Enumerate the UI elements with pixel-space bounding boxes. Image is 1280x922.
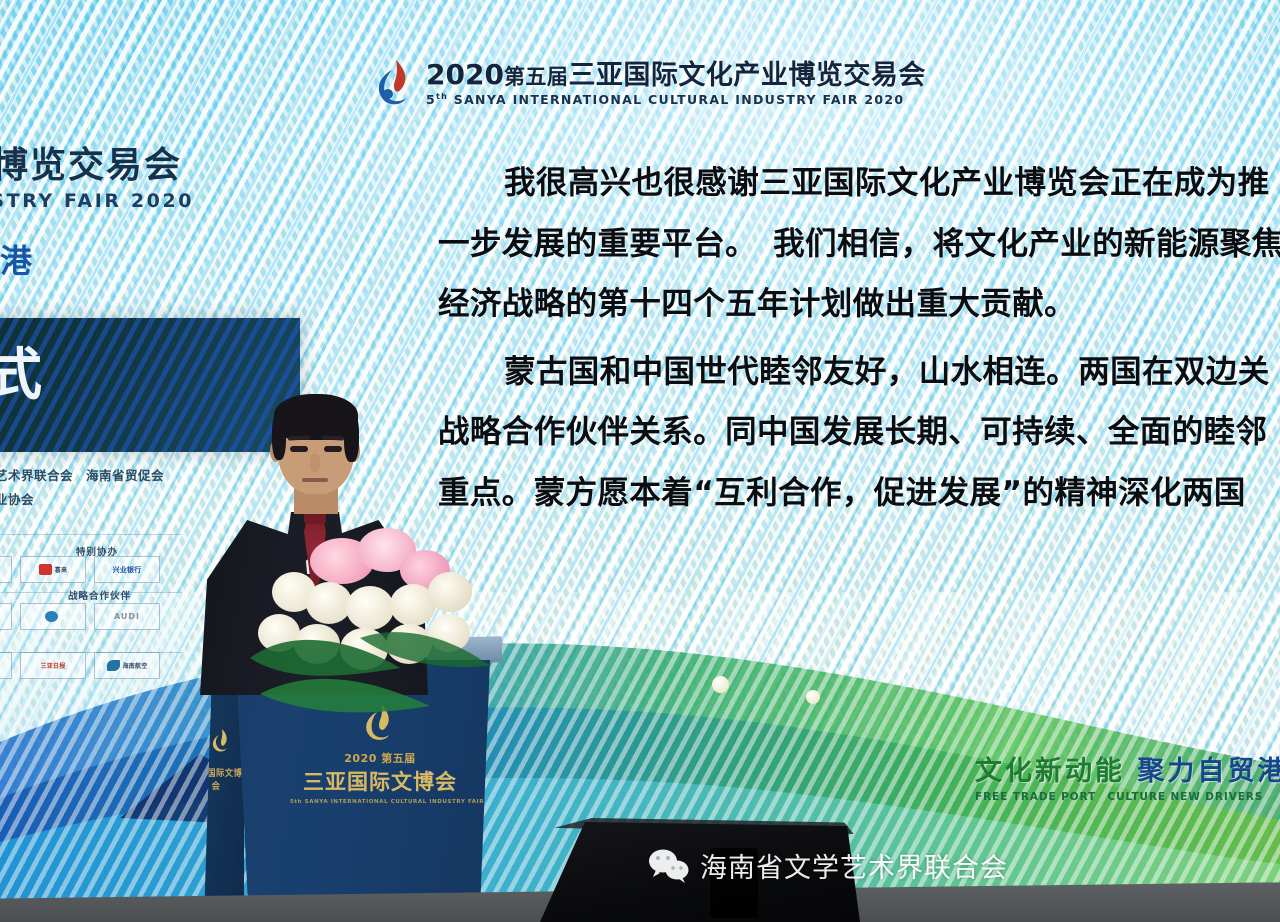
foliage-leaves xyxy=(240,598,510,728)
sponsor-caption-special: 特别协办 xyxy=(76,544,118,558)
fair-logo-edition: 第五届 xyxy=(504,65,569,89)
left-dark-panel-char: 式 xyxy=(0,330,44,411)
sponsor-caption-strategic: 战略合作伙伴 xyxy=(68,588,131,602)
sponsor-logo-7: 中国银行 xyxy=(0,652,12,679)
sponsor-logo-1: 中国.人 xyxy=(0,556,12,583)
organizer-list: 省文学艺术界联合会 海南省贸促会 文化产业协会 xyxy=(0,464,164,512)
sponsor-logo-6: AUDI xyxy=(94,603,160,630)
podium-year: 2020 xyxy=(344,752,377,765)
fair-header-logo: 2020第五届三亚国际文化产业博览交易会 5th SANYA INTERNATI… xyxy=(372,58,926,110)
left-banner-cn: 业博览交易会 xyxy=(0,148,194,184)
fair-logo-title-cn: 三亚国际文化产业博览交易会 xyxy=(568,60,926,91)
speech-p2-line1: 蒙古国和中国世代睦邻友好，山水相连。两国在双边关 xyxy=(438,357,1280,389)
eye-left xyxy=(290,446,308,452)
sponsor-logo-5 xyxy=(20,603,86,630)
left-banner-partial: 业博览交易会 DUSTRY FAIR 2020 xyxy=(0,148,194,211)
backdrop-slogan: 文化新动能 聚力自贸港 FREE TRADE PORT CULTURE NEW … xyxy=(975,758,1280,803)
left-banner-blue: 贸港 xyxy=(0,236,34,282)
sponsor-row: 中国.人 喜来 兴业银行 xyxy=(0,556,196,583)
wechat-icon xyxy=(648,848,690,884)
fair-logo-title-en: SANYA INTERNATIONAL CULTURAL INDUSTRY FA… xyxy=(454,92,905,107)
organizer-line-1: 省文学艺术界联合会 海南省贸促会 xyxy=(0,464,164,488)
decor-orb-2 xyxy=(806,690,820,704)
nose xyxy=(310,454,320,472)
sponsor-row: 中国银行 三亚日报 海南航空 xyxy=(0,652,196,679)
podium-side-flame-icon xyxy=(210,728,232,754)
sponsor-logo-2: 喜来 xyxy=(20,556,86,583)
speech-text-block: 我很高兴也很感谢三亚国际文化产业博览会正在成为推 一步发展的重要平台。 我们相信… xyxy=(438,168,1280,538)
slogan-cn-part1: 文化新动能 xyxy=(975,756,1125,787)
slogan-cn-part2: 聚力自贸港 xyxy=(1137,756,1280,787)
wechat-watermark: 海南省文学艺术界联合会 xyxy=(648,846,1008,885)
speech-p2-line3: 重点。蒙方愿本着“互利合作，促进发展”的精神深化两国 xyxy=(438,478,1280,510)
hair-side-right xyxy=(344,412,359,462)
sponsor-logo-3: 兴业银行 xyxy=(94,556,160,583)
slogan-en: FREE TRADE PORT CULTURE NEW DRIVERS xyxy=(975,792,1280,803)
flower-arrangement xyxy=(250,528,510,718)
mouth xyxy=(302,478,328,482)
organizer-line-2: 文化产业协会 xyxy=(0,488,164,512)
hair-side-left xyxy=(272,412,286,460)
decor-orb-1 xyxy=(712,676,729,693)
podium-title-en: 5th SANYA INTERNATIONAL CULTURAL INDUSTR… xyxy=(290,799,470,805)
sponsor-logo-9: 海南航空 xyxy=(94,652,160,679)
podium-title-cn: 三亚国际文博会 xyxy=(290,766,470,796)
eye-right xyxy=(324,446,342,452)
screenshot-root: 2020第五届三亚国际文化产业博览交易会 5th SANYA INTERNATI… xyxy=(0,0,1280,922)
fair-logo-ordinal: 5 xyxy=(426,92,436,107)
sponsor-row: AUDI xyxy=(0,603,196,630)
sanya-fair-flame-icon xyxy=(372,58,418,110)
fair-logo-year: 2020 xyxy=(426,58,504,91)
sponsor-logo-8: 三亚日报 xyxy=(20,652,86,679)
sponsor-grid: 特别协办 战略合作伙伴 中国.人 喜来 兴业银行 xyxy=(0,548,196,692)
speech-p1-line2: 一步发展的重要平台。 我们相信，将文化产业的新能源聚焦 xyxy=(438,229,1280,261)
fair-logo-ordinal-suffix: th xyxy=(436,92,448,101)
left-banner-en: DUSTRY FAIR 2020 xyxy=(0,192,194,211)
speech-p2-line2: 战略合作伙伴关系。同中国发展长期、可持续、全面的睦邻 xyxy=(438,417,1280,449)
sponsor-logo-4 xyxy=(0,603,12,630)
podium-edition: 第五届 xyxy=(381,752,416,765)
speech-p1-line3: 经济战略的第十四个五年计划做出重大贡献。 xyxy=(438,289,1280,321)
speech-p1-line1: 我很高兴也很感谢三亚国际文化产业博览会正在成为推 xyxy=(438,168,1280,200)
wechat-account-name: 海南省文学艺术界联合会 xyxy=(700,846,1008,885)
